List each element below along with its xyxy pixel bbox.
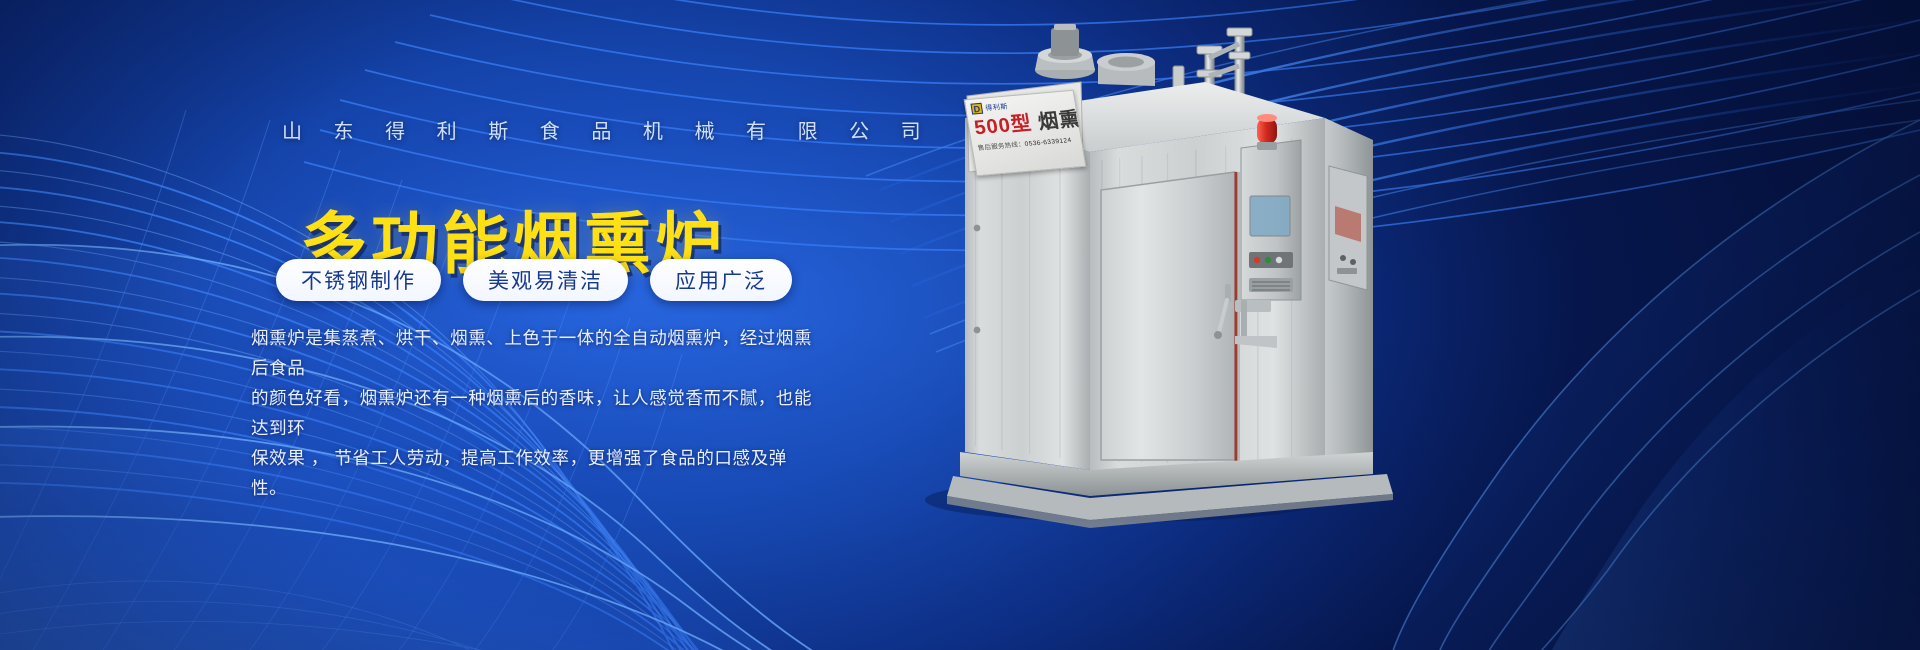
feature-pill-stainless[interactable]: 不锈钢制作 xyxy=(276,259,441,301)
description-line-2: 的颜色好看，烟熏炉还有一种烟熏后的香味，让人感觉香而不腻，也能达到环 xyxy=(251,383,813,443)
description-block: 烟熏炉是集蒸煮、烘干、烟熏、上色于一体的全自动烟熏炉，经过烟熏后食品 的颜色好看… xyxy=(251,323,813,503)
electrical-box xyxy=(1329,166,1367,290)
feature-pill-group: 不锈钢制作 美观易清洁 应用广泛 xyxy=(276,259,792,301)
control-display xyxy=(1250,196,1290,236)
service-phone: 0536-6339124 xyxy=(1024,137,1072,148)
blower-unit xyxy=(1035,24,1095,79)
feature-pill-wide-use[interactable]: 应用广泛 xyxy=(650,259,792,301)
product-banner: D 得利斯 500型 烟熏炉 售后服务热线：0536-6339124 山 东 得… xyxy=(0,0,1920,650)
logo-mark: D xyxy=(970,103,983,115)
control-panel xyxy=(1241,140,1301,300)
company-name: 山 东 得 利 斯 食 品 机 械 有 限 公 司 xyxy=(282,115,934,144)
service-label: 售后服务热线： xyxy=(977,141,1025,152)
banner-content: 山 东 得 利 斯 食 品 机 械 有 限 公 司 多功能烟熏炉 不锈钢制作 美… xyxy=(0,0,900,650)
feature-pill-easy-clean[interactable]: 美观易清洁 xyxy=(463,259,628,301)
motor-block xyxy=(1097,53,1155,86)
label-model-number: 500 xyxy=(973,114,1013,139)
description-line-1: 烟熏炉是集蒸煮、烘干、烟熏、上色于一体的全自动烟熏炉，经过烟熏后食品 xyxy=(251,323,813,383)
product-label: D 得利斯 500型 烟熏炉 售后服务热线：0536-6339124 xyxy=(964,90,1087,177)
oven-door xyxy=(1101,172,1235,460)
logo-text: 得利斯 xyxy=(984,101,1008,113)
product-image: D 得利斯 500型 烟熏炉 售后服务热线：0536-6339124 xyxy=(905,0,1625,650)
label-model-suffix: 型 xyxy=(1009,113,1034,137)
alarm-beacon xyxy=(1257,114,1277,150)
description-line-3: 保效果 ， 节省工人劳动，提高工作效率，更增强了食品的口感及弹性。 xyxy=(251,443,813,503)
